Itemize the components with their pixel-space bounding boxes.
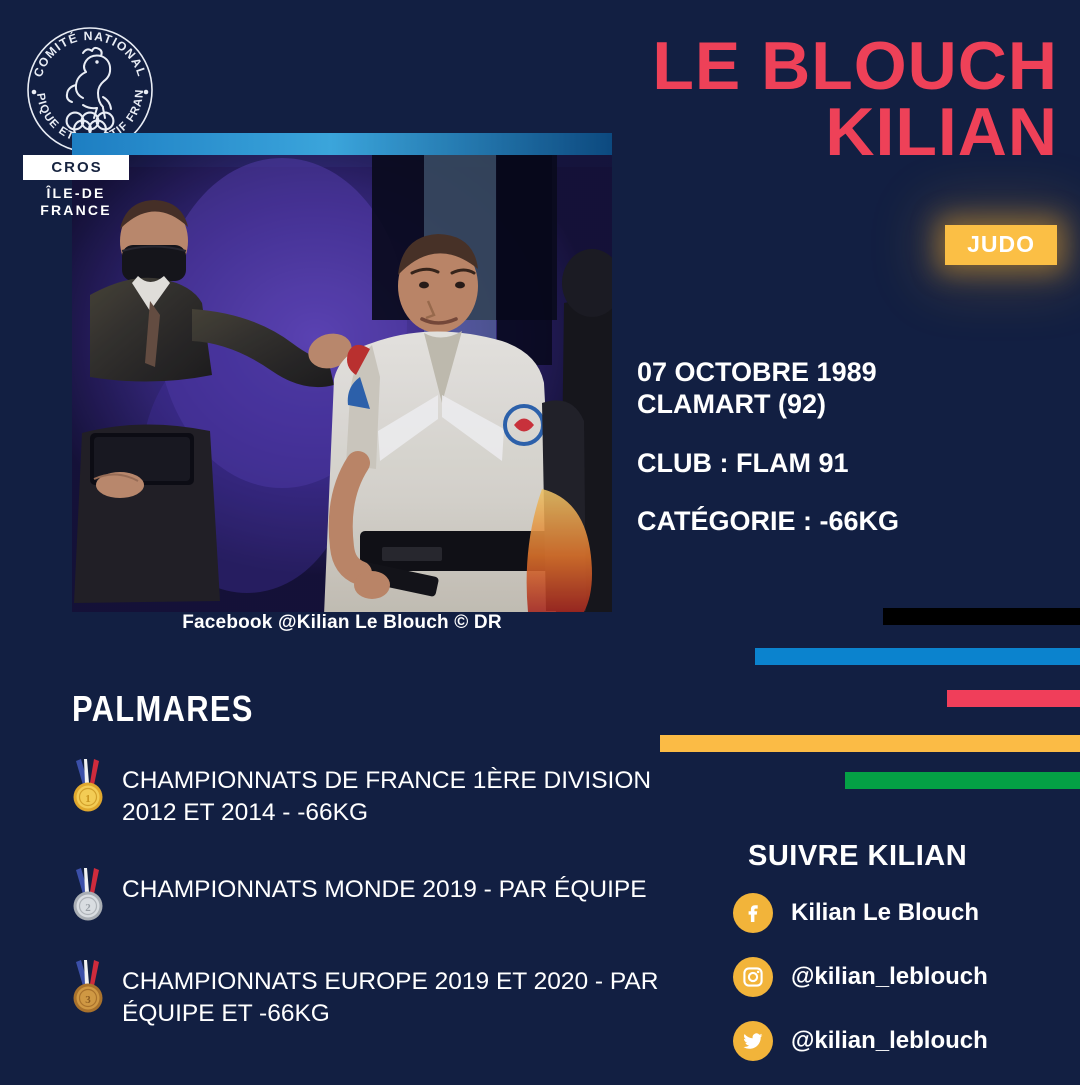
cros-region-line2: FRANCE xyxy=(23,202,129,219)
svg-text:3: 3 xyxy=(85,994,91,1006)
cros-badge-region: ÎLE-DE FRANCE xyxy=(23,185,129,219)
palmares-list: 1 CHAMPIONNATS DE FRANCE 1ÈRE DIVISION 2… xyxy=(68,757,668,1066)
cros-badge: CROS ÎLE-DE FRANCE xyxy=(23,155,129,219)
olympic-bar-red xyxy=(947,690,1080,707)
athlete-info: 07 OCTOBRE 1989 CLAMART (92) CLUB : FLAM… xyxy=(637,356,1067,538)
palmares-heading: PALMARES xyxy=(72,688,254,730)
svg-text:COMITÉ NATIONAL: COMITÉ NATIONAL xyxy=(31,29,149,79)
athlete-name-line2: KILIAN xyxy=(598,100,1058,166)
social-handle: @kilian_leblouch xyxy=(791,1027,988,1055)
photo-caption: Facebook @Kilian Le Blouch © DR xyxy=(72,612,612,634)
athlete-photo xyxy=(72,133,612,612)
social-link-twitter[interactable]: @kilian_leblouch xyxy=(733,1021,1073,1061)
palmares-entry-text: CHAMPIONNATS MONDE 2019 - PAR ÉQUIPE xyxy=(122,866,647,906)
palmares-entry-text: CHAMPIONNATS DE FRANCE 1ÈRE DIVISION 201… xyxy=(122,757,668,830)
silver-medal-icon: 2 xyxy=(68,866,108,922)
olympic-bar-black xyxy=(883,608,1080,625)
palmares-entry-text: CHAMPIONNATS EUROPE 2019 ET 2020 - PAR É… xyxy=(122,958,668,1031)
social-handle: Kilian Le Blouch xyxy=(791,899,979,927)
info-birth-place: CLAMART (92) xyxy=(637,388,1067,420)
instagram-icon xyxy=(733,957,773,997)
facebook-icon xyxy=(733,893,773,933)
olympic-bar-green xyxy=(845,772,1080,789)
info-birth-date: 07 OCTOBRE 1989 xyxy=(637,356,1067,388)
info-category: CATÉGORIE : -66KG xyxy=(637,505,1067,537)
gold-medal-icon: 1 xyxy=(68,757,108,813)
olympic-bar-blue xyxy=(755,648,1080,665)
social-link-instagram[interactable]: @kilian_leblouch xyxy=(733,957,1073,997)
palmares-entry-silver: 2 CHAMPIONNATS MONDE 2019 - PAR ÉQUIPE xyxy=(68,866,668,922)
follow-heading: SUIVRE KILIAN xyxy=(748,840,967,873)
info-birth: 07 OCTOBRE 1989 CLAMART (92) xyxy=(637,356,1067,421)
cros-badge-title: CROS xyxy=(23,155,129,180)
social-links-list: Kilian Le Blouch @kilian_leblouch @kilia… xyxy=(733,893,1073,1085)
page-title: LE BLOUCH KILIAN xyxy=(598,34,1058,166)
social-handle: @kilian_leblouch xyxy=(791,963,988,991)
athlete-name-line1: LE BLOUCH xyxy=(598,34,1058,100)
cros-region-line1: ÎLE-DE xyxy=(23,185,129,202)
svg-text:1: 1 xyxy=(85,793,91,805)
info-club: CLUB : FLAM 91 xyxy=(637,447,1067,479)
palmares-entry-bronze: 3 CHAMPIONNATS EUROPE 2019 ET 2020 - PAR… xyxy=(68,958,668,1031)
sport-badge: JUDO xyxy=(945,225,1057,265)
olympic-bar-yellow xyxy=(660,735,1080,752)
palmares-entry-gold: 1 CHAMPIONNATS DE FRANCE 1ÈRE DIVISION 2… xyxy=(68,757,668,830)
bronze-medal-icon: 3 xyxy=(68,958,108,1014)
twitter-icon xyxy=(733,1021,773,1061)
svg-text:2: 2 xyxy=(85,902,91,914)
social-link-facebook[interactable]: Kilian Le Blouch xyxy=(733,893,1073,933)
